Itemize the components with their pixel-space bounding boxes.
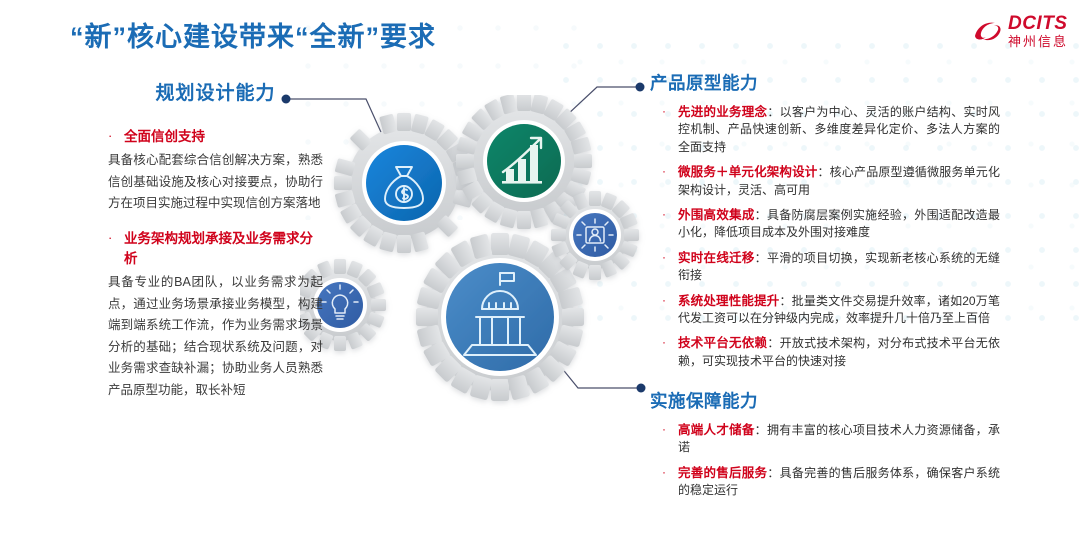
list-item-key: 高端人才储备 [678, 423, 755, 437]
bullet-icon: · [662, 249, 678, 285]
list-item-key: 实时在线迁移 [678, 251, 755, 265]
page-title: “新”核心建设带来“全新”要求 [70, 15, 436, 54]
list-item-body: 完善的售后服务：具备完善的售后服务体系，确保客户系统的稳定运行 [678, 464, 1000, 500]
list-item-sep: ： [779, 294, 791, 308]
list-item-body: 实时在线迁移：平滑的项目切换，实现新老核心系统的无缝衔接 [678, 249, 1000, 285]
bullet-icon: · [662, 163, 678, 199]
bullet-icon: · [662, 103, 678, 156]
gear-illustration [300, 95, 660, 435]
list-item-body: 微服务＋单元化架构设计：核心产品原型遵循微服务单元化架构设计，灵活、高可用 [678, 163, 1000, 199]
right-column: 产品原型能力 · 先进的业务理念：以客户为中心、灵活的账户结构、实时风控机制、产… [650, 70, 1000, 507]
bullet-icon: · [662, 421, 678, 457]
list-item-key: 技术平台无依赖 [678, 336, 767, 350]
list-item-body: 系统处理性能提升：批量类文件交易提升效率，诸如20万笔代发工资可以在分钟级内完成… [678, 292, 1000, 328]
left-column: 规划设计能力 · 全面信创支持 具备核心配套综合信创解决方案，熟悉信创基础设施及… [108, 78, 323, 415]
list-item-key: 微服务＋单元化架构设计 [678, 165, 817, 179]
list-item-key: 先进的业务理念 [678, 105, 767, 119]
list-item: · 微服务＋单元化架构设计：核心产品原型遵循微服务单元化架构设计，灵活、高可用 [650, 163, 1000, 199]
list-item-sep: ： [817, 165, 829, 179]
list-item: · 实时在线迁移：平滑的项目切换，实现新老核心系统的无缝衔接 [650, 249, 1000, 285]
left-column-heading: 规划设计能力 [108, 78, 323, 105]
logo-text-en: DCITS [1008, 14, 1068, 33]
left-block-2-heading: 业务架构规划承接及业务需求分析 [124, 229, 323, 270]
logo-text-cn: 神州信息 [1008, 35, 1068, 48]
list-item: · 高端人才储备：拥有丰富的核心项目技术人力资源储备，承诺 [650, 421, 1000, 457]
left-block-1-head-row: · 全面信创支持 [108, 127, 323, 147]
left-block-1-text: 具备核心配套综合信创解决方案，熟悉信创基础设施及核心对接要点，协助行方在项目实施… [108, 150, 323, 215]
list-item-sep: ： [767, 466, 779, 480]
list-item: · 先进的业务理念：以客户为中心、灵活的账户结构、实时风控机制、产品快速创新、多… [650, 103, 1000, 156]
list-item-body: 外围高效集成：具备防腐层案例实施经验，外围适配改造最小化，降低项目成本及外围对接… [678, 206, 1000, 242]
bullet-icon: · [108, 127, 124, 147]
list-item-sep: ： [767, 105, 779, 119]
list-item-sep: ： [755, 251, 767, 265]
list-item-body: 先进的业务理念：以客户为中心、灵活的账户结构、实时风控机制、产品快速创新、多维度… [678, 103, 1000, 156]
left-block-2-head-row: · 业务架构规划承接及业务需求分析 [108, 229, 323, 270]
left-block-2-text: 具备专业的BA团队，以业务需求为起点，通过业务场景承接业务模型，构建端到端系统工… [108, 272, 323, 401]
list-item-sep: ： [755, 208, 767, 222]
list-item-key: 系统处理性能提升 [678, 294, 779, 308]
list-item-key: 外围高效集成 [678, 208, 755, 222]
bullet-icon: · [662, 206, 678, 242]
list-item-sep: ： [767, 336, 779, 350]
list-item: · 外围高效集成：具备防腐层案例实施经验，外围适配改造最小化，降低项目成本及外围… [650, 206, 1000, 242]
list-item: · 系统处理性能提升：批量类文件交易提升效率，诸如20万笔代发工资可以在分钟级内… [650, 292, 1000, 328]
left-block-1-heading: 全面信创支持 [124, 127, 323, 147]
bullet-icon: · [108, 229, 124, 270]
list-item: · 完善的售后服务：具备完善的售后服务体系，确保客户系统的稳定运行 [650, 464, 1000, 500]
slide-canvas: “新”核心建设带来“全新”要求 DCITS 神州信息 [0, 0, 1080, 540]
list-item-key: 完善的售后服务 [678, 466, 767, 480]
bullet-icon: · [662, 334, 678, 370]
company-logo: DCITS 神州信息 [973, 14, 1068, 48]
list-item-body: 高端人才储备：拥有丰富的核心项目技术人力资源储备，承诺 [678, 421, 1000, 457]
list-item-body: 技术平台无依赖：开放式技术架构，对分布式技术平台无依赖，可实现技术平台的快速对接 [678, 334, 1000, 370]
list-item-sep: ： [755, 423, 767, 437]
bullet-icon: · [662, 292, 678, 328]
right-section-1-heading: 产品原型能力 [650, 70, 1000, 95]
bullet-icon: · [662, 464, 678, 500]
dcits-swirl-icon [973, 16, 1003, 46]
right-section-2-heading: 实施保障能力 [650, 388, 1000, 413]
list-item: · 技术平台无依赖：开放式技术架构，对分布式技术平台无依赖，可实现技术平台的快速… [650, 334, 1000, 370]
